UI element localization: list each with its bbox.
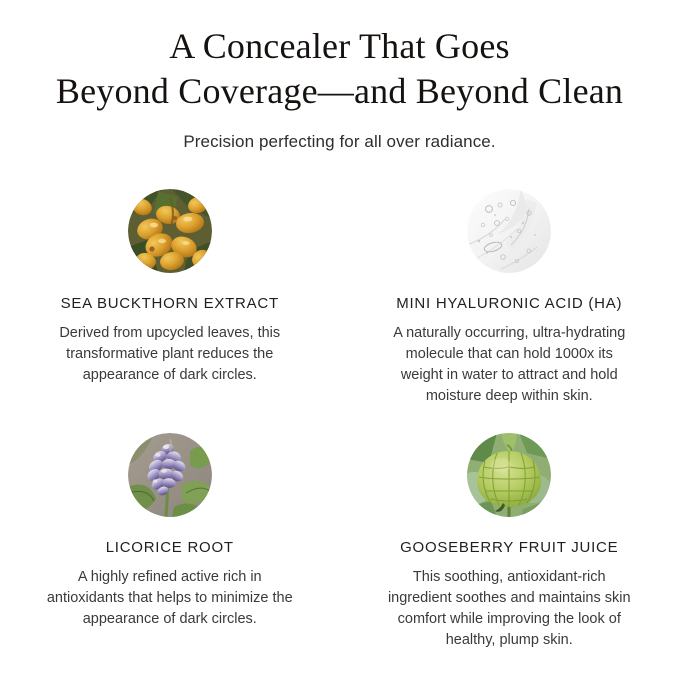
ingredient-card-gooseberry: GOOSEBERRY FRUIT JUICE This soothing, an… (340, 433, 679, 651)
gooseberry-husk-photo (467, 433, 551, 517)
hyaluronic-acid-gel-photo (467, 189, 551, 273)
page-header: A Concealer That Goes Beyond Coverage—an… (0, 0, 679, 153)
ingredient-title: SEA BUCKTHORN EXTRACT (61, 295, 279, 313)
ingredient-description: This soothing, antioxidant-rich ingredie… (383, 567, 635, 651)
ingredient-card-hyaluronic-acid: MINI HYALURONIC ACID (HA) A naturally oc… (340, 189, 679, 407)
ingredient-title: GOOSEBERRY FRUIT JUICE (400, 539, 618, 557)
ingredient-description: A highly refined active rich in antioxid… (44, 567, 296, 630)
ingredient-card-sea-buckthorn: SEA BUCKTHORN EXTRACT Derived from upcyc… (0, 189, 340, 407)
sea-buckthorn-berries-photo (128, 189, 212, 273)
ingredient-benefits-page: A Concealer That Goes Beyond Coverage—an… (0, 0, 679, 679)
ingredient-title: LICORICE ROOT (106, 539, 234, 557)
ingredient-title: MINI HYALURONIC ACID (HA) (396, 295, 622, 313)
page-title-line-2: Beyond Coverage—and Beyond Clean (28, 69, 651, 114)
ingredient-description: Derived from upcycled leaves, this trans… (44, 323, 296, 386)
page-subtitle: Precision perfecting for all over radian… (0, 131, 679, 153)
licorice-root-flower-photo (128, 433, 212, 517)
page-title-line-1: A Concealer That Goes (28, 24, 651, 69)
ingredient-grid: SEA BUCKTHORN EXTRACT Derived from upcyc… (0, 189, 679, 651)
page-title: A Concealer That Goes Beyond Coverage—an… (0, 24, 679, 113)
ingredient-card-licorice-root: LICORICE ROOT A highly refined active ri… (0, 433, 340, 651)
ingredient-description: A naturally occurring, ultra-hydrating m… (383, 323, 635, 407)
